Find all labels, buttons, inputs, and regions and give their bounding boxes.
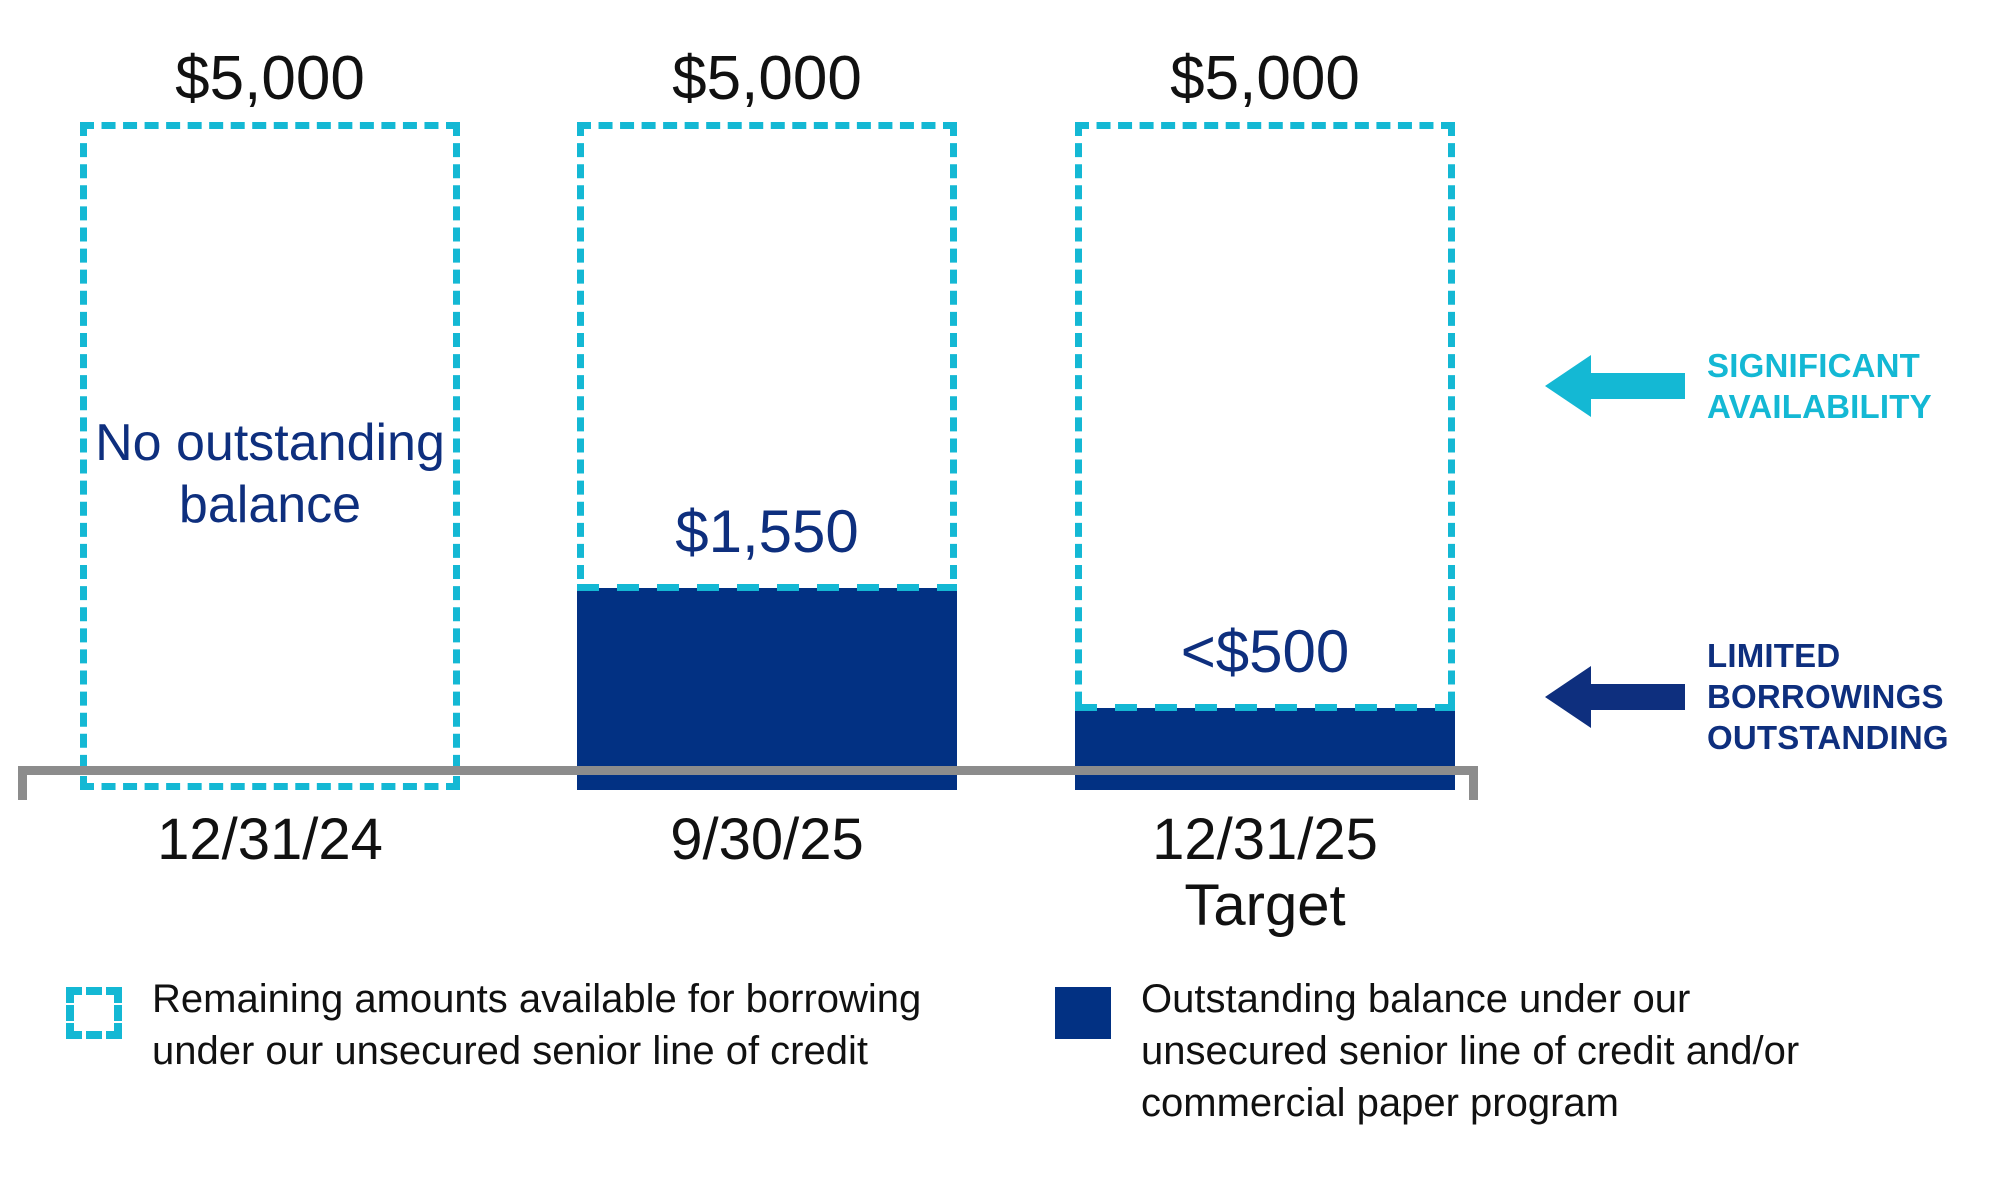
callout-borrowings-text: LIMITED BORROWINGS OUTSTANDING [1707,635,1949,758]
x-tick-label-2: 12/31/25 [1035,806,1495,874]
total-label-1: $5,000 [577,48,957,110]
total-label-2: $5,000 [1075,48,1455,110]
bar-group-9-30-25: $5,000 $1,550 [577,122,957,790]
outstanding-bar-2[interactable] [1075,708,1455,790]
x-tick-sublabel-2: Target [1035,872,1495,940]
arrow-left-icon [1545,353,1685,419]
legend-label-outstanding: Outstanding balance under our unsecured … [1141,973,1799,1129]
callout-availability-text: SIGNIFICANT AVAILABILITY [1707,345,1932,427]
legend: Remaining amounts available for borrowin… [0,945,2000,1175]
bar-group-12-31-25-target: $5,000 <$500 [1075,122,1455,790]
availability-box-2[interactable] [1075,122,1455,790]
bar-group-12-31-24: $5,000 No outstanding balance [80,122,460,790]
legend-swatch-solid-navy-icon [1055,987,1111,1039]
callout-limited-borrowings: LIMITED BORROWINGS OUTSTANDING [1545,635,1949,758]
x-tick-label-0: 12/31/24 [40,806,500,874]
legend-swatch-dashed-cyan-icon [66,987,122,1039]
legend-label-available: Remaining amounts available for borrowin… [152,973,921,1077]
legend-item-available[interactable]: Remaining amounts available for borrowin… [66,973,986,1077]
chart-canvas: $5,000 No outstanding balance $5,000 $1,… [0,0,2000,1187]
outstanding-bar-cap-1 [577,584,957,591]
axis-end-cap-right [1469,766,1478,800]
total-label-0: $5,000 [80,48,460,110]
axis-baseline [18,766,1478,775]
legend-item-outstanding[interactable]: Outstanding balance under our unsecured … [1055,973,1955,1129]
callout-significant-availability: SIGNIFICANT AVAILABILITY [1545,345,1932,427]
outstanding-label-0: No outstanding balance [80,412,460,536]
x-tick-label-1: 9/30/25 [537,806,997,874]
arrow-left-icon [1545,664,1685,730]
axis-end-cap-left [18,766,27,800]
outstanding-bar-1[interactable] [577,588,957,790]
outstanding-bar-cap-2 [1075,704,1455,711]
outstanding-label-1: $1,550 [577,502,957,562]
outstanding-label-2: <$500 [1075,622,1455,682]
